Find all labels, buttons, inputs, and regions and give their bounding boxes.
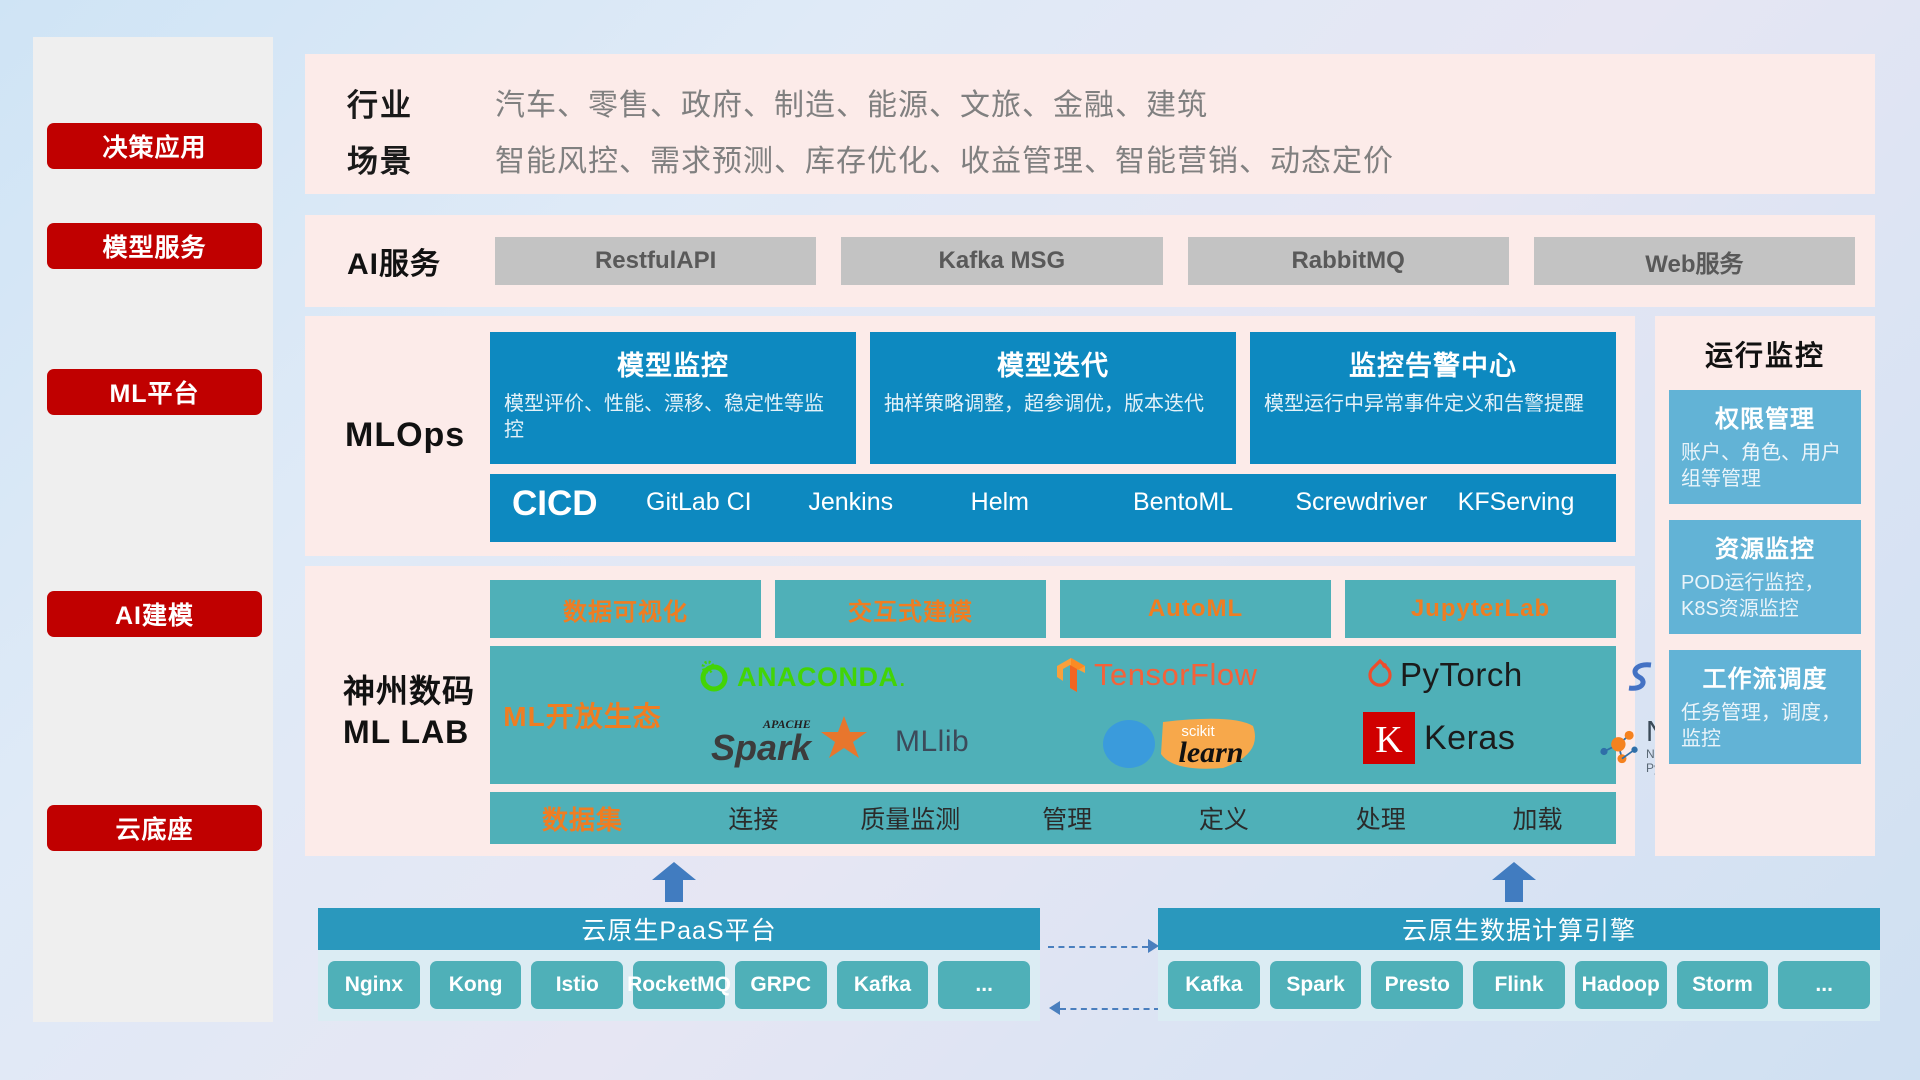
ai-service-chip-restfulapi[interactable]: RestfulAPI <box>495 237 816 285</box>
mlops-card-model-monitor[interactable]: 模型监控 模型评价、性能、漂移、稳定性等监控 <box>490 332 856 464</box>
card-desc: 账户、角色、用户组等管理 <box>1681 440 1849 492</box>
dataset-item-process[interactable]: 处理 <box>1302 800 1459 836</box>
paas-chip-kong[interactable]: Kong <box>430 961 522 1009</box>
paas-chip-nginx[interactable]: Nginx <box>328 961 420 1009</box>
engine-chip-hadoop[interactable]: Hadoop <box>1575 961 1667 1009</box>
ml-lab-label-line2: ML LAB <box>343 712 475 753</box>
dataset-item-define[interactable]: 定义 <box>1145 800 1302 836</box>
card-title: 模型监控 <box>504 344 842 383</box>
paas-chip-kafka[interactable]: Kafka <box>837 961 929 1009</box>
industry-list: 汽车、零售、政府、制造、能源、文旅、金融、建筑 <box>495 80 1208 124</box>
left-rail: 决策应用 模型服务 ML平台 AI建模 云底座 <box>33 37 273 1022</box>
ml-open-ecosystem: ML开放生态 ANACONDA . <box>490 646 1616 784</box>
scikit-learn-icon: scikit learn <box>1103 714 1293 772</box>
pytorch-wordmark: PyTorch <box>1400 656 1523 694</box>
runtime-monitor-title: 运行监控 <box>1655 316 1875 374</box>
card-title: 工作流调度 <box>1681 659 1849 694</box>
anaconda-logo: ANACONDA . <box>697 660 906 694</box>
keras-wordmark: Keras <box>1424 719 1515 758</box>
ml-lab-tool-interactive-modeling[interactable]: 交互式建模 <box>775 580 1046 638</box>
runtime-monitor-panel: 运行监控 权限管理 账户、角色、用户组等管理 资源监控 POD运行监控，K8S资… <box>1655 316 1875 856</box>
dataset-label: 数据集 <box>490 800 675 837</box>
pytorch-icon <box>1365 658 1395 692</box>
ai-service-chip-list: RestfulAPI Kafka MSG RabbitMQ Web服务 <box>495 215 1855 307</box>
scenario-label: 场景 <box>347 136 413 181</box>
paas-chip-grpc[interactable]: GRPC <box>735 961 827 1009</box>
dashed-connector-left <box>1060 1008 1160 1010</box>
paas-chip-istio[interactable]: Istio <box>531 961 623 1009</box>
engine-chip-flink[interactable]: Flink <box>1473 961 1565 1009</box>
networkx-icon <box>1595 724 1640 770</box>
engine-chip-presto[interactable]: Presto <box>1371 961 1463 1009</box>
engine-title: 云原生数据计算引擎 <box>1158 908 1880 950</box>
card-title: 模型迭代 <box>884 344 1222 383</box>
paas-chip-list: Nginx Kong Istio RocketMQ GRPC Kafka ... <box>318 950 1040 1021</box>
paas-chip-rocketmq[interactable]: RocketMQ <box>633 961 725 1009</box>
ai-service-chip-rabbitmq[interactable]: RabbitMQ <box>1188 237 1509 285</box>
dataset-item-load[interactable]: 加载 <box>1459 800 1616 836</box>
cicd-item-jenkins[interactable]: Jenkins <box>804 474 966 517</box>
rail-tag-decision[interactable]: 决策应用 <box>47 123 262 169</box>
dataset-item-manage[interactable]: 管理 <box>989 800 1146 836</box>
cicd-item-kfserving[interactable]: KFServing <box>1454 474 1616 517</box>
mlops-card-list: 模型监控 模型评价、性能、漂移、稳定性等监控 模型迭代 抽样策略调整，超参调优，… <box>490 332 1616 464</box>
anaconda-dot: . <box>899 662 907 693</box>
sas-icon <box>1625 661 1659 693</box>
svg-text:Spark: Spark <box>711 727 813 768</box>
anaconda-wordmark: ANACONDA <box>737 662 899 693</box>
ai-service-panel: AI服务 RestfulAPI Kafka MSG RabbitMQ Web服务 <box>305 215 1875 307</box>
engine-chip-kafka[interactable]: Kafka <box>1168 961 1260 1009</box>
ai-service-label: AI服务 <box>347 239 441 283</box>
card-desc: 任务管理，调度，监控 <box>1681 700 1849 752</box>
ecosystem-logo-area: ANACONDA . TensorFlow <box>675 646 1616 784</box>
rail-tag-ml-platform[interactable]: ML平台 <box>47 369 262 415</box>
paas-title: 云原生PaaS平台 <box>318 908 1040 950</box>
ml-lab-label: 神州数码 ML LAB <box>343 671 475 753</box>
cicd-title: CICD <box>490 474 642 524</box>
card-title: 权限管理 <box>1681 399 1849 434</box>
tensorflow-logo: TensorFlow <box>1055 656 1258 694</box>
scikit-learn-logo: scikit learn <box>1103 714 1293 772</box>
cloud-native-data-engine-group: 云原生数据计算引擎 Kafka Spark Presto Flink Hadoo… <box>1158 908 1880 1021</box>
spark-mllib-logo: APACHE Spark MLlib <box>711 712 969 772</box>
architecture-diagram: 决策应用 模型服务 ML平台 AI建模 云底座 行业 汽车、零售、政府、制造、能… <box>0 0 1920 1080</box>
paas-chip-more[interactable]: ... <box>938 961 1030 1009</box>
card-desc: POD运行监控，K8S资源监控 <box>1681 570 1849 622</box>
ml-lab-panel: 神州数码 ML LAB 数据可视化 交互式建模 AutoML JupyterLa… <box>305 566 1635 856</box>
ai-service-chip-kafka-msg[interactable]: Kafka MSG <box>841 237 1162 285</box>
mlops-card-alert-center[interactable]: 监控告警中心 模型运行中异常事件定义和告警提醒 <box>1250 332 1616 464</box>
ml-lab-tool-jupyterlab[interactable]: JupyterLab <box>1345 580 1616 638</box>
card-title: 监控告警中心 <box>1264 344 1602 383</box>
card-desc: 模型运行中异常事件定义和告警提醒 <box>1264 391 1602 417</box>
ml-lab-tool-data-visualization[interactable]: 数据可视化 <box>490 580 761 638</box>
ai-service-chip-web[interactable]: Web服务 <box>1534 237 1855 285</box>
card-desc: 抽样策略调整，超参调优，版本迭代 <box>884 391 1222 417</box>
card-title: 资源监控 <box>1681 529 1849 564</box>
mllib-wordmark: MLlib <box>895 725 969 759</box>
mlops-card-model-iteration[interactable]: 模型迭代 抽样策略调整，超参调优，版本迭代 <box>870 332 1236 464</box>
dataset-bar: 数据集 连接 质量监测 管理 定义 处理 加载 <box>490 792 1616 844</box>
ml-ecosystem-label: ML开放生态 <box>490 695 675 735</box>
rail-tag-ai-modeling[interactable]: AI建模 <box>47 591 262 637</box>
keras-icon: K <box>1363 712 1415 764</box>
svg-text:K: K <box>1375 719 1403 761</box>
cicd-item-bentoml[interactable]: BentoML <box>1129 474 1291 517</box>
industry-label: 行业 <box>347 80 413 125</box>
mlops-label: MLOps <box>345 416 465 455</box>
arrow-up-paas-icon <box>652 862 696 902</box>
engine-chip-spark[interactable]: Spark <box>1270 961 1362 1009</box>
cicd-item-gitlab-ci[interactable]: GitLab CI <box>642 474 804 517</box>
keras-logo: K Keras <box>1363 712 1515 764</box>
ml-lab-tool-automl[interactable]: AutoML <box>1060 580 1331 638</box>
pytorch-logo: PyTorch <box>1365 656 1523 694</box>
dashed-connector-right <box>1048 946 1148 948</box>
rail-tag-cloud-base[interactable]: 云底座 <box>47 805 262 851</box>
rail-tag-model-service[interactable]: 模型服务 <box>47 223 262 269</box>
dataset-item-connect[interactable]: 连接 <box>675 800 832 836</box>
monitor-card-resource[interactable]: 资源监控 POD运行监控，K8S资源监控 <box>1669 520 1861 634</box>
engine-chip-storm[interactable]: Storm <box>1677 961 1769 1009</box>
mlops-panel: MLOps 模型监控 模型评价、性能、漂移、稳定性等监控 模型迭代 抽样策略调整… <box>305 316 1635 556</box>
svg-text:learn: learn <box>1178 736 1243 769</box>
anaconda-icon <box>697 660 731 694</box>
tensorflow-icon <box>1055 656 1087 694</box>
spark-icon: APACHE Spark <box>711 712 891 772</box>
ml-lab-tool-list: 数据可视化 交互式建模 AutoML JupyterLab <box>490 580 1616 638</box>
dataset-item-quality[interactable]: 质量监测 <box>832 800 989 836</box>
scenario-list: 智能风控、需求预测、库存优化、收益管理、智能营销、动态定价 <box>495 136 1394 180</box>
monitor-card-permission[interactable]: 权限管理 账户、角色、用户组等管理 <box>1669 390 1861 504</box>
card-desc: 模型评价、性能、漂移、稳定性等监控 <box>504 391 842 443</box>
engine-chip-list: Kafka Spark Presto Flink Hadoop Storm ..… <box>1158 950 1880 1021</box>
cicd-item-helm[interactable]: Helm <box>967 474 1129 517</box>
cloud-native-paas-group: 云原生PaaS平台 Nginx Kong Istio RocketMQ GRPC… <box>318 908 1040 1021</box>
monitor-card-workflow[interactable]: 工作流调度 任务管理，调度，监控 <box>1669 650 1861 764</box>
ml-lab-label-line1: 神州数码 <box>343 671 475 712</box>
arrow-up-engine-icon <box>1492 862 1536 902</box>
engine-chip-more[interactable]: ... <box>1778 961 1870 1009</box>
cicd-bar: CICD GitLab CI Jenkins Helm BentoML Scre… <box>490 474 1616 542</box>
dashed-arrow-left-icon <box>1049 1001 1060 1015</box>
cicd-item-screwdriver[interactable]: Screwdriver <box>1291 474 1453 517</box>
tensorflow-wordmark: TensorFlow <box>1094 657 1258 693</box>
industry-scenario-panel: 行业 汽车、零售、政府、制造、能源、文旅、金融、建筑 场景 智能风控、需求预测、… <box>305 54 1875 194</box>
